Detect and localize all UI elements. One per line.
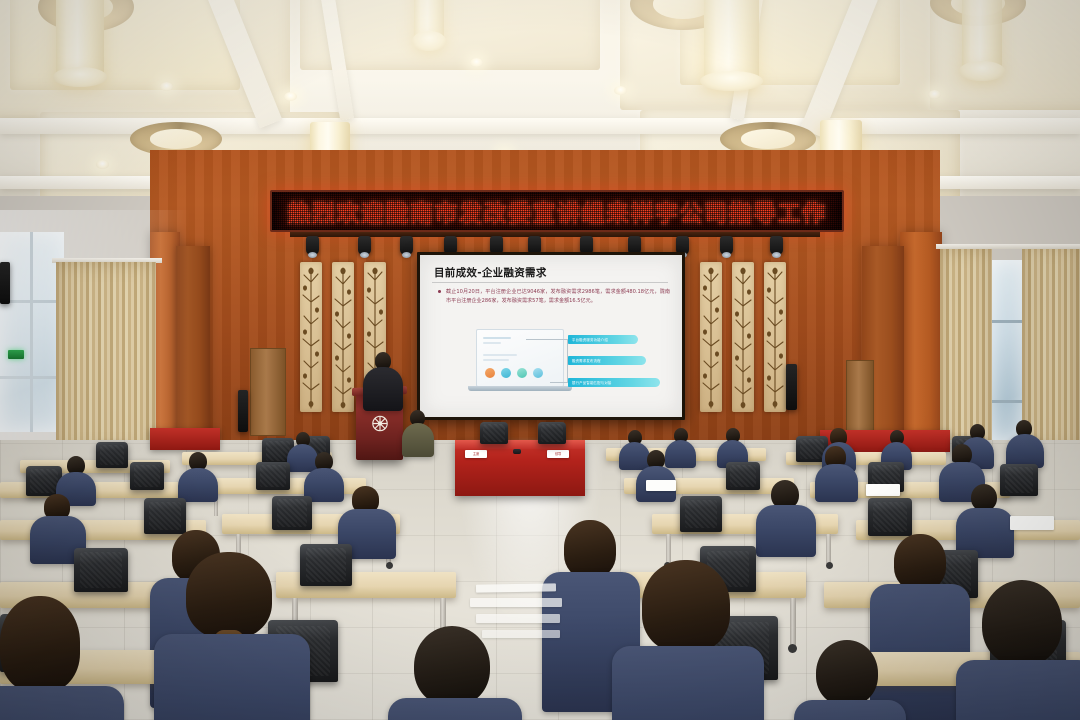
person-body — [612, 646, 764, 720]
laptop-line — [483, 359, 509, 361]
slide-laptop-graphic — [476, 329, 564, 387]
slide-callout-bar: 银行产品智能匹配与对接 — [568, 378, 660, 387]
floor-reflection-strip — [470, 598, 562, 607]
ceiling-coffer — [300, 0, 600, 70]
person-body — [287, 444, 318, 472]
name-placard-text: 领导 — [547, 450, 569, 458]
conference-hall-photo: 热烈欢迎陇南市发改委宣讲组来祥宇公司指导工作 — [0, 0, 1080, 720]
stage-spotlight — [400, 236, 413, 255]
slide-body-text: 截止10月20日，平台注册企业已达9046家，发布融资需求2986笔，需求金额4… — [446, 288, 670, 306]
stage-spotlight — [720, 236, 733, 255]
person-hair — [0, 596, 80, 692]
presenter-body — [363, 367, 403, 411]
curtain-left — [56, 262, 156, 452]
decor-panel — [332, 262, 354, 412]
person-head — [816, 640, 878, 706]
ceiling-downlight — [614, 86, 627, 95]
side-door-right — [846, 360, 874, 438]
desk-caster — [788, 644, 797, 653]
wall-speaker-left — [0, 262, 10, 304]
laptop-line — [483, 337, 511, 339]
chair — [96, 442, 128, 468]
person-body — [402, 423, 434, 457]
name-placard-text: 主席 — [465, 450, 487, 458]
desk-leg — [826, 534, 831, 564]
curtain-rail-right — [936, 244, 1080, 249]
person-body — [154, 634, 310, 720]
floor-reflection-strip — [476, 583, 556, 592]
ceiling-downlight — [470, 58, 483, 67]
curtain-right-b — [1022, 244, 1080, 450]
callout-connector — [526, 339, 568, 340]
slide-callout-bar: 融资需求发布流程 — [568, 356, 646, 365]
stage-spotlight — [358, 236, 371, 255]
side-door-left — [250, 348, 286, 436]
person-body — [619, 442, 650, 470]
window-mullion — [992, 320, 1022, 323]
person-hair — [186, 552, 272, 638]
stage-column-left-inner — [176, 246, 210, 446]
ceiling-downlight — [284, 92, 297, 101]
chair — [130, 462, 164, 490]
decor-panel — [300, 262, 322, 412]
person-head — [414, 626, 490, 706]
slide-callout-bar: 平台融资服务功能介绍 — [568, 335, 638, 344]
pendant-lamp — [962, 0, 1002, 72]
decor-panel — [764, 262, 786, 412]
projection-screen-frame: 目前成效-企业融资需求 截止10月20日，平台注册企业已达9046家，发布融资需… — [417, 252, 685, 420]
person-body — [815, 464, 858, 502]
curtain-right-a — [940, 248, 992, 450]
head-table-chair — [538, 422, 566, 444]
person-body — [794, 700, 906, 720]
ceiling-downlight — [928, 90, 941, 99]
laptop-icon — [485, 368, 495, 378]
person-body — [756, 505, 816, 557]
laptop-line — [483, 354, 517, 356]
paper-sheet — [866, 484, 900, 496]
person-head — [971, 484, 997, 511]
chair — [144, 498, 186, 534]
laptop-icon — [501, 368, 511, 378]
person-hair — [564, 520, 616, 578]
callout-connector — [550, 382, 568, 383]
pendant-lamp — [704, 0, 759, 82]
desk-object — [513, 449, 521, 454]
decor-panel — [732, 262, 754, 412]
laptop-icon — [533, 368, 543, 378]
paper-sheet — [1010, 516, 1054, 530]
projection-screen: 目前成效-企业融资需求 截止10月20日，平台注册企业已达9046家，发布融资需… — [420, 255, 682, 417]
pendant-lamp — [56, 0, 104, 78]
window-mullion — [30, 232, 33, 432]
person-body — [665, 440, 696, 468]
person-hair — [894, 534, 946, 590]
ceiling-downlight — [96, 160, 109, 169]
chair — [74, 548, 128, 592]
person-body — [0, 686, 124, 720]
desk-caster — [826, 562, 833, 569]
decor-panel-group-right — [700, 262, 786, 412]
chair — [1000, 464, 1038, 496]
exit-sign-left — [8, 350, 24, 359]
floor-reflection-strip — [476, 614, 560, 623]
person-body — [956, 660, 1080, 720]
slide-title-rule — [432, 282, 668, 283]
chair — [300, 544, 352, 586]
chair — [868, 498, 912, 536]
slide-bullet-icon — [438, 290, 441, 293]
window-right — [992, 260, 1022, 442]
floor-reflection-strip — [482, 630, 560, 638]
slide-title: 目前成效-企业融资需求 — [434, 265, 547, 280]
person-head — [982, 580, 1062, 666]
person-body — [178, 468, 218, 502]
window-mullion — [992, 400, 1022, 403]
stage-red-table-left — [150, 428, 220, 450]
person-body — [1006, 434, 1044, 468]
stage-spotlight — [770, 236, 783, 255]
chair — [726, 462, 760, 490]
laptop-line — [483, 342, 501, 344]
desk-leg — [790, 598, 796, 646]
laptop-icon — [517, 368, 527, 378]
desk-caster — [386, 562, 393, 569]
chair — [272, 496, 312, 530]
wall-speaker-right — [786, 364, 797, 410]
name-placard: 领导 — [547, 450, 569, 458]
wall-speaker — [238, 390, 248, 432]
stage-column-right — [900, 232, 942, 450]
pendant-lamp — [414, 0, 444, 42]
head-table: 主席 领导 — [455, 440, 585, 496]
stage-spotlight — [306, 236, 319, 255]
chair — [680, 496, 722, 532]
led-banner-text: 热烈欢迎陇南市发改委宣讲组来祥宇公司指导工作 — [288, 194, 827, 228]
chair — [256, 462, 290, 490]
paper-sheet — [646, 480, 676, 491]
desk-leg — [666, 534, 671, 564]
led-welcome-banner: 热烈欢迎陇南市发改委宣讲组来祥宇公司指导工作 — [270, 190, 844, 232]
ceiling-downlight — [160, 82, 173, 91]
name-placard: 主席 — [465, 450, 487, 458]
person-body — [388, 698, 522, 720]
person-hair — [642, 560, 730, 652]
flower-emblem-icon — [370, 414, 389, 433]
decor-panel — [700, 262, 722, 412]
head-table-chair — [480, 422, 508, 444]
